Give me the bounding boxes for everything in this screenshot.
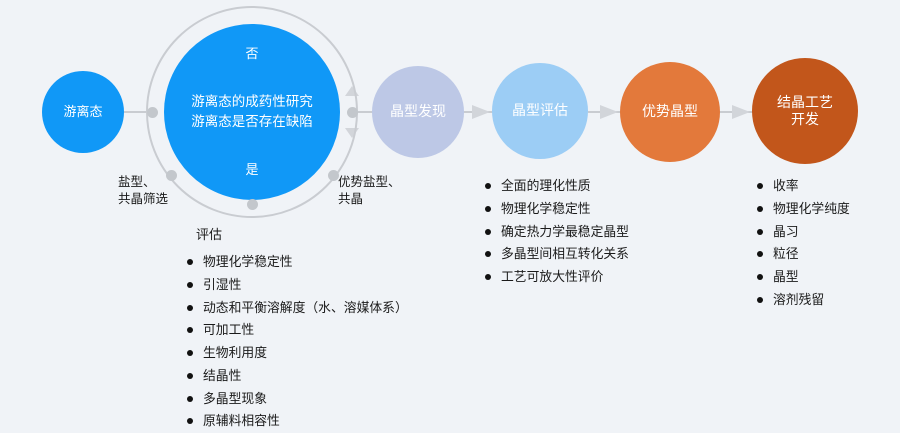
list-item: 可加工性 [186, 319, 408, 342]
node-free-form[interactable]: 游离态 [42, 71, 124, 153]
list-item: 动态和平衡溶解度（水、溶媒体系） [186, 297, 408, 320]
ring-dot-left [147, 107, 158, 118]
decision-question-text: 游离态的成药性研究 游离态是否存在缺陷 [191, 92, 313, 131]
ring-dot-right [347, 107, 358, 118]
decision-branch-no-label: 否 [164, 46, 340, 62]
node-crystal-discovery[interactable]: 晶型发现 [372, 66, 464, 158]
node-crystallization-process-label: 结晶工艺 开发 [777, 94, 833, 128]
list-item: 物理化学纯度 [756, 198, 850, 221]
decision-branch-yes-label: 是 [164, 162, 340, 178]
list-item: 全面的理化性质 [484, 175, 629, 198]
list-assessment-items: 物理化学稳定性引湿性动态和平衡溶解度（水、溶媒体系）可加工性生物利用度结晶性多晶… [186, 251, 408, 433]
list-evaluation-items: 全面的理化性质物理化学稳定性确定热力学最稳定晶型多晶型间相互转化关系工艺可放大性… [484, 175, 629, 289]
list-item: 确定热力学最稳定晶型 [484, 221, 629, 244]
node-crystal-evaluation[interactable]: 晶型评估 [492, 63, 588, 159]
list-item: 多晶型间相互转化关系 [484, 243, 629, 266]
list-item: 晶型 [756, 266, 850, 289]
list-item: 粒径 [756, 243, 850, 266]
node-crystallization-process[interactable]: 结晶工艺 开发 [752, 58, 858, 164]
list-item: 晶习 [756, 221, 850, 244]
list-item: 结晶性 [186, 365, 408, 388]
list-item: 溶剂残留 [756, 289, 850, 312]
node-crystal-evaluation-label: 晶型评估 [512, 102, 568, 119]
branch-label-salt-screening: 盐型、 共晶筛选 [118, 174, 168, 209]
flow-diagram: 游离态 否 游离态的成药性研究 游离态是否存在缺陷 是 盐型、 共晶筛选 优势盐… [0, 0, 900, 417]
list-item: 物理化学稳定性 [186, 251, 408, 274]
list-item: 物理化学稳定性 [484, 198, 629, 221]
list-item: 工艺可放大性评价 [484, 266, 629, 289]
list-item: 收率 [756, 175, 850, 198]
list-item: 生物利用度 [186, 342, 408, 365]
branch-label-dominant-salt: 优势盐型、 共晶 [338, 174, 401, 209]
arrow-discovery-to-evaluation [472, 105, 490, 119]
list-item: 引湿性 [186, 274, 408, 297]
node-dominant-crystal[interactable]: 优势晶型 [620, 62, 720, 162]
list-item: 原辅料相容性 [186, 410, 408, 433]
node-dominant-crystal-label: 优势晶型 [642, 103, 698, 120]
node-crystal-discovery-label: 晶型发现 [390, 103, 446, 120]
list-process-items: 收率物理化学纯度晶习粒径晶型溶剂残留 [756, 175, 850, 312]
arrow-dominant-to-process [732, 105, 750, 119]
list-item: 多晶型现象 [186, 388, 408, 411]
node-decision[interactable]: 否 游离态的成药性研究 游离态是否存在缺陷 是 [164, 24, 340, 200]
list-process: 收率物理化学纯度晶习粒径晶型溶剂残留 [756, 175, 850, 312]
ring-dot-bottom [247, 199, 258, 210]
list-evaluation: 全面的理化性质物理化学稳定性确定热力学最稳定晶型多晶型间相互转化关系工艺可放大性… [484, 175, 629, 289]
node-free-form-label: 游离态 [63, 104, 102, 120]
list-assessment: 评估 物理化学稳定性引湿性动态和平衡溶解度（水、溶媒体系）可加工性生物利用度结晶… [186, 224, 408, 433]
arrow-evaluation-to-dominant [600, 105, 618, 119]
list-assessment-title: 评估 [196, 224, 408, 243]
